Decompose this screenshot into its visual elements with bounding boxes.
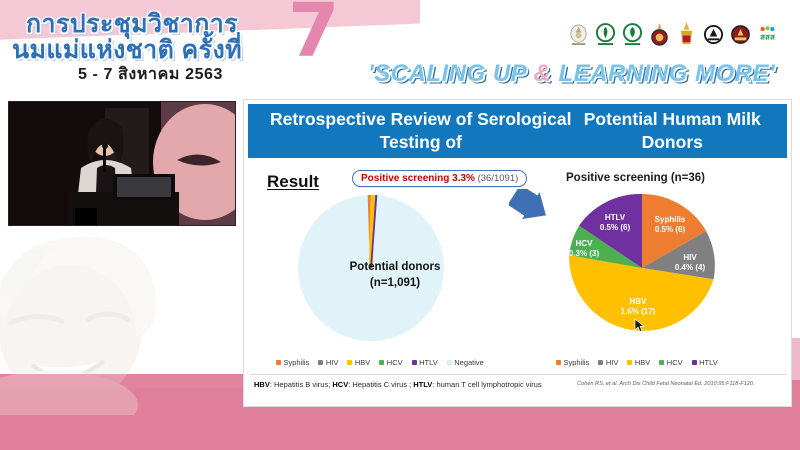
- legend-label-hcv-right: HCV: [667, 358, 683, 367]
- legend-swatch-syphilis: [276, 360, 281, 365]
- legend-swatch-hiv-right: [598, 360, 603, 365]
- source-citation: Cohen RS, et al. Arch Dis Child Fetal Ne…: [577, 381, 755, 387]
- footer-divider: [250, 374, 787, 375]
- conference-date: 5 - 7 สิงหาคม 2563: [78, 62, 223, 87]
- sponsor-logos: สสส: [568, 22, 778, 49]
- presentation-slide: Retrospective Review of Serological Test…: [243, 99, 792, 407]
- baby-watermark-image: [0, 215, 228, 415]
- legend-label-htlv-right: HTLV: [699, 358, 718, 367]
- presenter-video-feed[interactable]: [8, 101, 236, 226]
- potential-donors-subtitle: (n=1,091): [370, 277, 420, 289]
- legend-item-hcv: HCV: [379, 358, 402, 367]
- positive-screening-legend: Syphilis HIV HBV HCV HTLV: [556, 358, 718, 367]
- legend-swatch-hbv-right: [627, 360, 632, 365]
- legend-item-syphilis-right: Syphilis: [556, 358, 589, 367]
- potential-donors-pie-label: Potential donors (n=1,091): [310, 260, 480, 291]
- pie-slice-label-hiv: HIV: [683, 253, 697, 262]
- black-circle-emblem-logo: [703, 22, 724, 49]
- red-circle-emblem-logo: [730, 22, 751, 49]
- pie-slice-label-hcv: HCV: [576, 239, 594, 248]
- legend-item-negative: Negative: [447, 358, 484, 367]
- legend-swatch-syphilis-right: [556, 360, 561, 365]
- thaihealth-sss-logo: สสส: [757, 22, 778, 49]
- potential-donors-legend: Syphilis HIV HBV HCV HTLV Negative: [276, 358, 484, 367]
- legend-item-hcv-right: HCV: [659, 358, 682, 367]
- slogan-part-1: 'SCALING UP: [368, 60, 534, 87]
- pie-slice-label-syphilis: Syphilis: [655, 215, 686, 224]
- potential-donors-title: Potential donors: [350, 261, 441, 273]
- legend-swatch-negative: [447, 360, 452, 365]
- footnote-hbv-label: HBV: [254, 380, 270, 389]
- footnote-htlv-label: HTLV: [413, 380, 432, 389]
- legend-swatch-hbv: [347, 360, 352, 365]
- legend-swatch-htlv-right: [692, 360, 697, 365]
- legend-label-syphilis-right: Syphilis: [564, 358, 590, 367]
- slogan-part-2: LEARNING MORE': [551, 60, 775, 87]
- pie-slice-value-syphilis: 0.5% (6): [655, 225, 686, 234]
- pie-slice-value-hcv: 0.3% (3): [569, 249, 600, 258]
- footnote-htlv-text: : human T cell lymphotropic virus: [432, 380, 541, 389]
- legend-swatch-hiv: [318, 360, 323, 365]
- royal-gold-emblem-logo: [676, 22, 697, 49]
- legend-label-hbv: HBV: [355, 358, 370, 367]
- legend-label-syphilis: Syphilis: [284, 358, 310, 367]
- conference-edition-number: 7: [288, 0, 340, 68]
- callout-fraction: (36/1091): [478, 173, 519, 184]
- health-ministry-green-logo: [595, 22, 616, 49]
- conference-slogan: 'SCALING UP & LEARNING MORE': [368, 60, 775, 88]
- pie-slice-value-hbv: 1.6% (17): [621, 307, 656, 316]
- footnote-hcv-text: : Hepatitis C virus ;: [348, 380, 413, 389]
- legend-swatch-hcv: [379, 360, 384, 365]
- legend-item-hiv: HIV: [318, 358, 338, 367]
- pie-slice-label-htlv: HTLV: [605, 213, 626, 222]
- pie-slice-label-hbv: HBV: [630, 297, 648, 306]
- slogan-ampersand: &: [534, 60, 552, 87]
- royal-crown-red-logo: [649, 22, 670, 49]
- mouse-cursor-icon: [634, 318, 646, 334]
- pie-slice-value-htlv: 0.5% (6): [600, 223, 631, 232]
- legend-item-hbv: HBV: [347, 358, 370, 367]
- legend-item-syphilis: Syphilis: [276, 358, 309, 367]
- legend-label-hbv-right: HBV: [635, 358, 650, 367]
- positive-screening-pie-title: Positive screening (n=36): [566, 172, 705, 184]
- slide-title: Retrospective Review of Serological Test…: [248, 104, 787, 158]
- legend-swatch-htlv: [412, 360, 417, 365]
- svg-text:สสส: สสส: [760, 33, 775, 42]
- footnote-hbv-text: : Hepatitis B virus;: [270, 380, 333, 389]
- royal-emblem-logo: [568, 22, 589, 49]
- legend-label-negative: Negative: [454, 358, 484, 367]
- footnote-hcv-label: HCV: [332, 380, 348, 389]
- slide-title-line1: Retrospective Review of Serological Test…: [266, 108, 575, 155]
- pie-slice-value-hiv: 0.4% (4): [675, 263, 706, 272]
- legend-label-hiv-right: HIV: [606, 358, 619, 367]
- public-health-green-logo: [622, 22, 643, 49]
- positive-screening-callout: Positive screening 3.3% (36/1091): [352, 170, 527, 187]
- legend-label-htlv: HTLV: [419, 358, 438, 367]
- positive-screening-pie-chart: Syphilis 0.5% (6) HIV 0.4% (4) HBV 1.6% …: [562, 188, 752, 350]
- slide-title-line2: Potential Human Milk Donors: [575, 108, 769, 155]
- legend-item-hiv-right: HIV: [598, 358, 618, 367]
- legend-item-htlv-right: HTLV: [692, 358, 718, 367]
- callout-percent: Positive screening 3.3%: [361, 173, 475, 184]
- abbreviation-footnote: HBV: Hepatitis B virus; HCV: Hepatitis C…: [254, 380, 542, 389]
- legend-item-htlv: HTLV: [412, 358, 438, 367]
- legend-item-hbv-right: HBV: [627, 358, 650, 367]
- transition-arrow-icon: [509, 189, 551, 233]
- result-label: Result: [267, 172, 319, 192]
- legend-label-hcv: HCV: [387, 358, 403, 367]
- legend-swatch-hcv-right: [659, 360, 664, 365]
- legend-label-hiv: HIV: [326, 358, 339, 367]
